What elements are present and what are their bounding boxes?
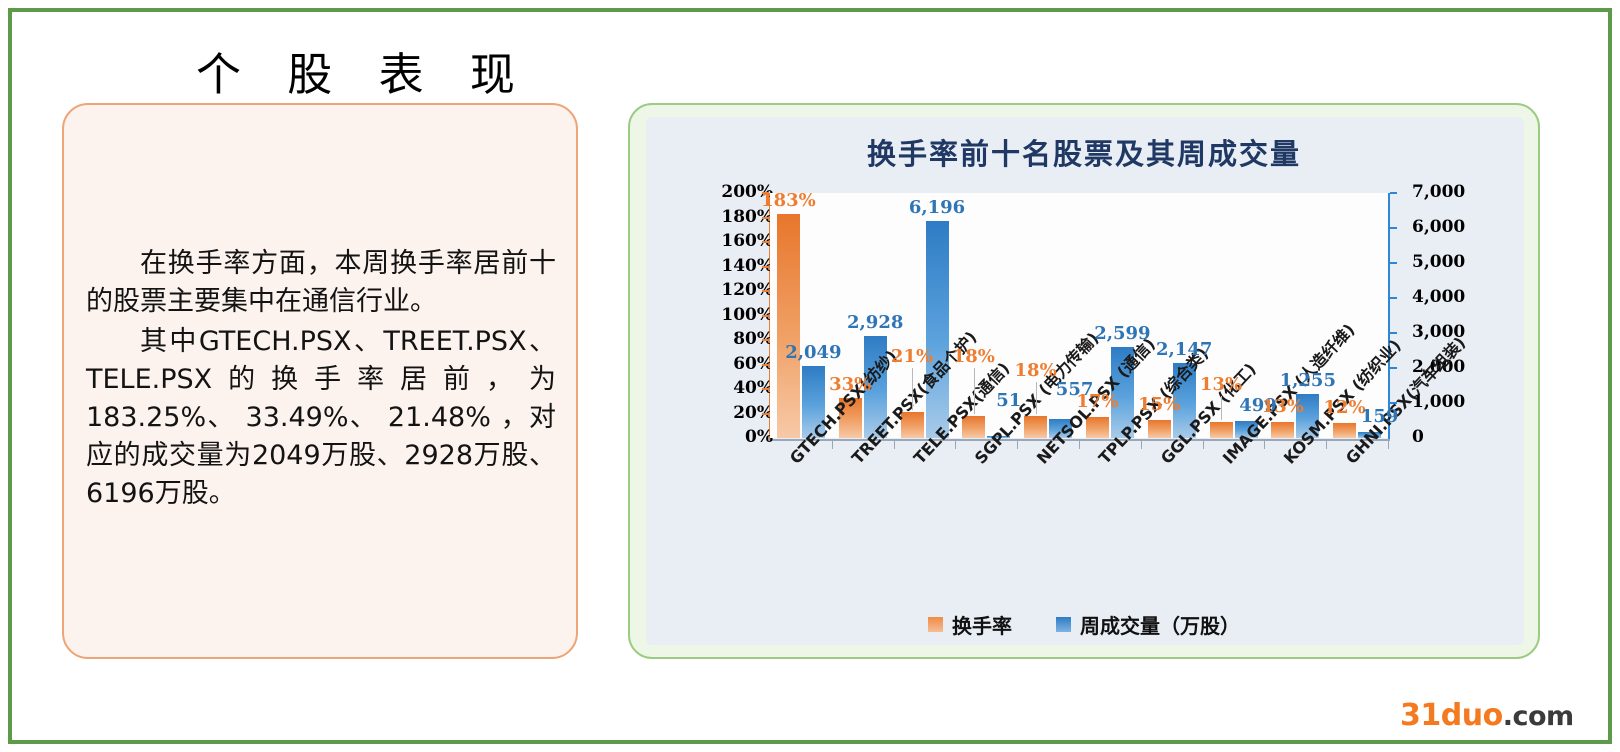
label-leader-line (974, 368, 975, 414)
left-axis-tick-mark (762, 388, 769, 390)
left-axis-tick-mark (762, 339, 769, 341)
right-axis-tick-label: 0 (1412, 427, 1502, 447)
right-axis-tick-label: 5,000 (1412, 252, 1502, 272)
left-axis-tick-label: 20% (683, 403, 773, 423)
data-label-volume: 51 (996, 390, 1021, 411)
legend-item-turnover[interactable]: 换手率 (928, 610, 1012, 639)
category-tick-mark (1264, 441, 1265, 449)
watermark-brand: 31duo (1400, 698, 1503, 733)
watermark: 31duo.com (1400, 698, 1574, 733)
right-axis-tick-mark (1390, 367, 1397, 369)
watermark-tld: .com (1503, 701, 1574, 732)
left-axis-tick-label: 60% (683, 354, 773, 374)
data-label-volume: 2,599 (1094, 323, 1150, 344)
right-axis-tick-mark (1390, 332, 1397, 334)
data-label-turnover: 15% (1138, 394, 1180, 415)
chart-legend: 换手率 周成交量（万股） (630, 610, 1538, 639)
data-label-volume: 159 (1361, 406, 1399, 427)
label-leader-line (912, 368, 913, 410)
category-tick-mark (1326, 441, 1327, 449)
left-axis-tick-mark (762, 364, 769, 366)
slide-frame-left (8, 8, 12, 744)
slide-frame-bottom (8, 740, 1612, 744)
left-axis-tick-mark (762, 413, 769, 415)
data-label-turnover: 18% (953, 346, 995, 367)
left-axis-tick-label: 200% (683, 182, 773, 202)
data-label-turnover: 18% (1015, 360, 1057, 381)
bar-turnover[interactable] (1210, 422, 1233, 438)
legend-label-turnover: 换手率 (952, 610, 1012, 639)
category-tick-mark (1203, 441, 1204, 449)
legend-swatch-icon-volume (1056, 617, 1071, 632)
left-axis-tick-label: 100% (683, 305, 773, 325)
data-label-turnover: 21% (891, 346, 933, 367)
data-label-turnover: 12% (1324, 397, 1366, 418)
left-axis-tick-mark (762, 315, 769, 317)
slide-root: 个 股 表 现 在换手率方面，本周换手率居前十的股票主要集中在通信行业。 其中G… (0, 0, 1620, 752)
data-label-volume: 2,928 (847, 312, 903, 333)
bar-volume[interactable] (926, 221, 949, 438)
commentary-paragraph-2: 其中GTECH.PSX、TREET.PSX、TELE.PSX的换手率居前，为 1… (86, 323, 556, 513)
left-axis-tick-label: 40% (683, 378, 773, 398)
left-axis-tick-label: 80% (683, 329, 773, 349)
label-leader-line (1036, 382, 1037, 414)
data-label-volume: 2,049 (785, 342, 841, 363)
right-axis-tick-label: 7,000 (1412, 182, 1502, 202)
category-tick-mark (1079, 441, 1080, 449)
left-axis-tick-label: 180% (683, 207, 773, 227)
category-tick-mark (1017, 441, 1018, 449)
slide-frame-top (8, 8, 1612, 12)
legend-label-volume: 周成交量（万股） (1080, 610, 1240, 639)
data-label-turnover: 33% (829, 374, 871, 395)
data-label-turnover: 183% (761, 190, 816, 211)
data-label-turnover: 13% (1200, 374, 1242, 395)
right-axis-tick-mark (1390, 227, 1397, 229)
category-tick-mark (894, 441, 895, 449)
right-axis-tick-label: 4,000 (1412, 287, 1502, 307)
right-axis-tick-label: 1,000 (1412, 392, 1502, 412)
data-label-volume: 2,147 (1156, 339, 1212, 360)
page-title: 个 股 表 现 (196, 38, 531, 103)
chart-title: 换手率前十名股票及其周成交量 (630, 131, 1538, 173)
legend-swatch-icon-turnover (928, 617, 943, 632)
right-axis-tick-mark (1390, 262, 1397, 264)
category-tick-mark (1141, 441, 1142, 449)
right-axis-tick-mark (1390, 297, 1397, 299)
commentary-text: 在换手率方面，本周换手率居前十的股票主要集中在通信行业。 其中GTECH.PSX… (86, 245, 556, 515)
data-label-turnover: 13% (1262, 396, 1304, 417)
left-axis-tick-mark (762, 290, 769, 292)
left-axis-tick-mark (762, 241, 769, 243)
left-axis-tick-label: 160% (683, 231, 773, 251)
bar-turnover[interactable] (777, 214, 800, 438)
left-axis-tick-label: 140% (683, 256, 773, 276)
data-label-volume: 6,196 (909, 197, 965, 218)
chart-panel: 换手率前十名股票及其周成交量 0%20%40%60%80%100%120%140… (628, 103, 1540, 659)
category-tick-mark (955, 441, 956, 449)
category-tick-mark (832, 441, 833, 449)
data-label-volume: 1,255 (1280, 370, 1336, 391)
right-axis-tick-mark (1390, 192, 1397, 194)
commentary-paragraph-1: 在换手率方面，本周换手率居前十的股票主要集中在通信行业。 (86, 245, 556, 321)
data-label-turnover: 17% (1076, 391, 1118, 412)
left-axis-tick-label: 0% (683, 427, 773, 447)
right-axis-tick-label: 6,000 (1412, 217, 1502, 237)
left-axis-tick-mark (762, 266, 769, 268)
legend-item-volume[interactable]: 周成交量（万股） (1056, 610, 1240, 639)
category-tick-mark (1388, 441, 1389, 449)
commentary-panel: 在换手率方面，本周换手率居前十的股票主要集中在通信行业。 其中GTECH.PSX… (62, 103, 578, 659)
left-axis-tick-label: 120% (683, 280, 773, 300)
left-axis-tick-mark (762, 217, 769, 219)
label-leader-line (1221, 396, 1222, 420)
slide-frame-right (1608, 8, 1612, 744)
